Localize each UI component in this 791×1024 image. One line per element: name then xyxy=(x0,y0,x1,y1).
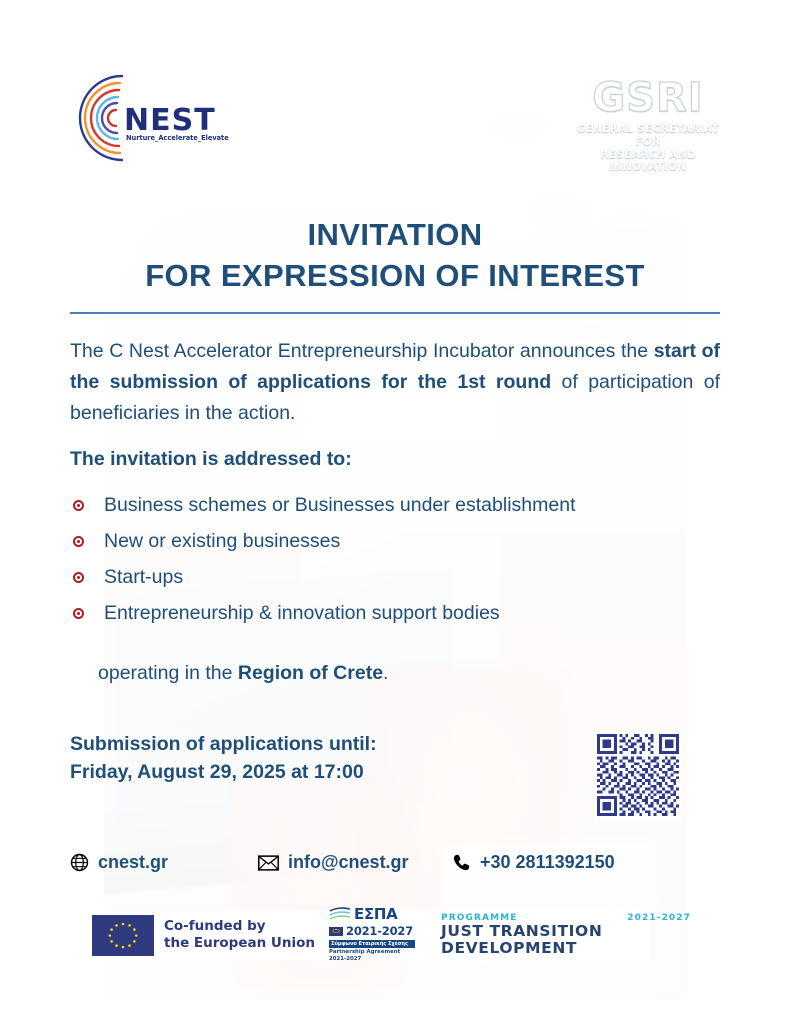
deadline-date: Friday, August 29, 2025 at 17:00 xyxy=(70,758,540,786)
espa-swoosh-icon xyxy=(329,907,351,922)
espa-pa-line1: Partnership Agreement xyxy=(329,949,415,956)
globe-icon xyxy=(70,853,89,872)
intro-part1: The C Nest Accelerator Entrepreneurship … xyxy=(70,340,654,362)
eu-flag-icon xyxy=(92,915,154,956)
list-item-label: Business schemes or Businesses under est… xyxy=(104,494,576,516)
operating-suffix: . xyxy=(383,662,388,684)
deadline-label: Submission of applications until: xyxy=(70,730,540,758)
contact-phone-label: +30 2811392150 xyxy=(480,852,615,873)
phone-icon xyxy=(452,853,471,872)
gsri-subtitle: GENERAL SECRETARIAT FOR RESEARCH AND INN… xyxy=(563,123,733,174)
espa-mini-eu-flag-icon xyxy=(329,927,343,936)
espa-top-row: ΕΣΠΑ xyxy=(329,907,415,922)
bullseye-icon xyxy=(73,572,84,583)
list-item-label: New or existing businesses xyxy=(104,530,340,552)
footer-logo-band: Co-funded by the European Union ΕΣΠΑ 202… xyxy=(88,910,650,960)
operating-region: Region of Crete xyxy=(238,662,383,684)
bullseye-icon xyxy=(73,608,84,619)
contact-email[interactable]: info@cnest.gr xyxy=(258,852,409,873)
qr-code[interactable] xyxy=(594,731,682,819)
addressed-heading: The invitation is addressed to: xyxy=(70,448,720,471)
gsri-subtitle-line1: GENERAL SECRETARIAT FOR xyxy=(563,123,733,149)
espa-greek-bar: Σύμφωνο Εταιρικής Σχέσης xyxy=(329,940,415,948)
contact-phone[interactable]: +30 2811392150 xyxy=(452,852,615,873)
eu-flag-graphic xyxy=(92,915,154,956)
eu-funding-text: Co-funded by the European Union xyxy=(164,918,315,953)
list-item: Start-ups xyxy=(70,564,720,590)
qr-code-graphic xyxy=(597,734,679,816)
list-item: Business schemes or Businesses under est… xyxy=(70,492,720,518)
espa-pa-line2: 2021-2027 xyxy=(329,956,415,963)
title-line-1: INVITATION xyxy=(70,214,720,255)
nest-logo-graphic: NEST Nurture_Accelerate_Elevate xyxy=(78,72,238,164)
just-transition-logo: PROGRAMME 2021-2027 JUST TRANSITION DEVE… xyxy=(441,913,691,956)
espa-wordmark: ΕΣΠΑ xyxy=(354,907,397,922)
espa-years: 2021-2027 xyxy=(346,924,413,938)
gsri-mark: GSRI xyxy=(563,78,733,118)
contact-row: cnest.gr info@cnest.gr +30 2811392150 xyxy=(70,852,690,882)
nest-wordmark: NEST xyxy=(124,103,216,138)
nest-tagline: Nurture_Accelerate_Elevate xyxy=(126,134,229,142)
list-item-label: Start-ups xyxy=(104,566,183,588)
envelope-icon xyxy=(258,855,279,871)
jtd-title: JUST TRANSITION DEVELOPMENT xyxy=(441,923,691,956)
poster-content: NEST Nurture_Accelerate_Elevate GSRI GEN… xyxy=(0,0,791,1024)
jtd-years: 2021-2027 xyxy=(627,913,691,923)
contact-website-label: cnest.gr xyxy=(98,852,168,873)
list-item: Entrepreneurship & innovation support bo… xyxy=(70,600,720,626)
gsri-subtitle-line2: RESEARCH AND INNOVATION xyxy=(563,149,733,175)
title-divider xyxy=(70,312,720,314)
espa-logo: ΕΣΠΑ 2021-2027 Σύμφωνο Εταιρικής Σχέσης … xyxy=(329,907,415,962)
gsri-logo: GSRI GENERAL SECRETARIAT FOR RESEARCH AN… xyxy=(563,78,733,158)
page-title: INVITATION FOR EXPRESSION OF INTEREST xyxy=(70,214,720,296)
eu-funding-line1: Co-funded by xyxy=(164,918,315,935)
list-item: New or existing businesses xyxy=(70,528,720,554)
espa-partnership-agreement: Partnership Agreement 2021-2027 xyxy=(329,949,415,962)
list-item-label: Entrepreneurship & innovation support bo… xyxy=(104,602,500,624)
eu-funding-line2: the European Union xyxy=(164,935,315,952)
bullseye-icon xyxy=(73,536,84,547)
poster-page: NEST Nurture_Accelerate_Elevate GSRI GEN… xyxy=(0,0,791,1024)
intro-paragraph: The C Nest Accelerator Entrepreneurship … xyxy=(70,336,720,428)
contact-email-label: info@cnest.gr xyxy=(288,852,409,873)
bullseye-icon xyxy=(73,500,84,511)
nest-logo: NEST Nurture_Accelerate_Elevate xyxy=(78,72,238,164)
espa-years-row: 2021-2027 xyxy=(329,924,415,938)
operating-region-line: operating in the Region of Crete. xyxy=(98,662,698,685)
operating-prefix: operating in the xyxy=(98,662,238,684)
audience-list: Business schemes or Businesses under est… xyxy=(70,492,720,637)
contact-website[interactable]: cnest.gr xyxy=(70,852,168,873)
submission-deadline: Submission of applications until: Friday… xyxy=(70,730,540,787)
title-line-2: FOR EXPRESSION OF INTEREST xyxy=(70,255,720,296)
